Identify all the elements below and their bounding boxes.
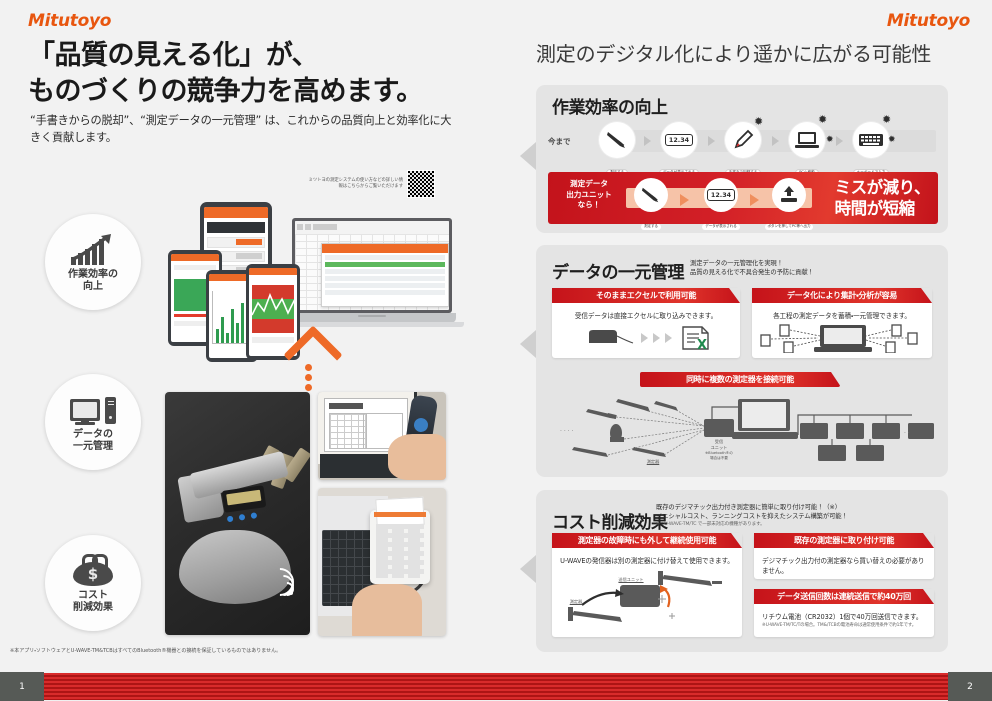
banner-step-caption: データが表示される xyxy=(702,224,740,230)
box-attach-existing: 既存の測定器に取り付け可能 デジマチック出力付の測定器なら買い替えの必要がありま… xyxy=(754,533,934,579)
flow-step-measure: 測定する xyxy=(594,122,640,177)
badge-data-management: データの 一元管理 xyxy=(45,374,141,470)
laptop-illustration xyxy=(288,218,456,333)
display-value: 12.34 xyxy=(665,134,693,146)
mitutoyo-logo-right: Mitutoyo xyxy=(887,11,970,31)
banner-step-output: ボタンを押してPC等へ出力 xyxy=(760,178,818,231)
badge-label: コスト 削減効果 xyxy=(73,590,113,614)
panel-pointer-efficiency xyxy=(520,142,536,170)
label-receiver-unit: 受信 ユニット xyxy=(696,439,742,450)
panel-sub-cost: 既存のデジマチック出力付き測定器に簡単に取り付け可能！（※） イニシャルコスト、… xyxy=(656,503,942,529)
svg-text:X: X xyxy=(697,338,707,351)
money-purse-icon: $ xyxy=(70,552,116,586)
badge-work-efficiency: 作業効率の 向上 xyxy=(45,214,141,310)
display-1234-icon: 12.34 xyxy=(661,122,697,158)
transmitter-swap-diagram: 送信ユニット 測定器 xyxy=(560,565,732,631)
page-number-left: 1 xyxy=(0,672,44,701)
box-header: 既存の測定器に取り付け可能 xyxy=(754,533,934,548)
box-battery-life: データ送信回数は連続送信で約40万回 リチウム電池（CR2032）1個で40万回… xyxy=(754,589,934,637)
box-header: そのままエクセルで利用可能 xyxy=(552,288,740,303)
panel-heading-cost: コスト削減効果 xyxy=(552,508,668,533)
box-note: ※U-WAVE-TM/TC/Tの場合。TM&/TCBの電池寿命は通常使用条件で約… xyxy=(762,623,926,629)
up-arrow-icon xyxy=(292,334,338,378)
box-body: デジマチック出力付の測定器なら買い替えの必要がありません。 xyxy=(754,548,934,582)
wireless-signal-icon xyxy=(264,570,294,596)
qr-caption: ミツトヨの測定システムの使い方などの詳しい情報はこちらからご覧いただけます xyxy=(305,178,403,191)
old-flow-label: 今まで xyxy=(548,136,571,147)
box-analysis-easy: データ化により集計・分析が容易 各工程の測定データを蓄積・一元管理できます。 xyxy=(752,288,932,358)
svg-text:· · · ·: · · · · xyxy=(560,428,573,435)
display-1234-icon: 12.34 xyxy=(704,178,738,212)
box-header: 測定器の故障時にも外して継続使用可能 xyxy=(552,533,742,548)
headline-line-2: ものづくりの競争力を高めます。 xyxy=(28,74,468,110)
label-gauge: 測定器 xyxy=(638,459,668,465)
box-header: データ送信回数は連続送信で約40万回 xyxy=(754,589,934,604)
photo-micrometer-measuring xyxy=(165,392,310,635)
mitutoyo-logo-left: Mitutoyo xyxy=(28,11,111,31)
banner-headline: ミスが減り、 時間が短縮 xyxy=(835,177,930,219)
panel-heading-data: データの一元管理 xyxy=(552,258,684,283)
desktop-pc-icon xyxy=(70,391,116,425)
badge-label: 作業効率の 向上 xyxy=(68,269,118,293)
banner-step-display: 12.34 データが表示される xyxy=(692,178,750,231)
gear-icon: ✹ xyxy=(882,114,891,125)
label-transmit-unit: 送信ユニット xyxy=(608,577,654,583)
page-number-right: 2 xyxy=(948,672,992,701)
qr-block: ミツトヨの測定システムの使い方などの詳しい情報はこちらからご覧いただけます xyxy=(305,170,435,198)
banner-step-caption: 測定する xyxy=(641,224,661,230)
badge-cost-reduction: $ コスト 削減効果 xyxy=(45,535,141,631)
panel-pointer-data xyxy=(520,330,536,358)
banner-step-caption: ボタンを押してPC等へ出力 xyxy=(765,224,814,230)
page-left: Mitutoyo 「品質の見える化」が、 ものづくりの競争力を高めます。 “手書… xyxy=(0,0,496,672)
gear-icon: ✹ xyxy=(826,136,834,145)
banner-step-measure: 測定する xyxy=(622,178,680,231)
gear-icon: ✹ xyxy=(818,114,827,125)
gear-icon: ✹ xyxy=(754,116,763,127)
box-excel-usable: そのままエクセルで利用可能 受信データは直接エクセルに取り込みできます。 X xyxy=(552,288,740,358)
panel-sub-data: 測定データの一元管理化を実現！ 品質の見える化で不具合発生の予防に貢献！ xyxy=(690,259,940,278)
footnote: ※本アプリ・ソフトウェアとU-WAVE-TM&TCBはすべてのBluetooth… xyxy=(10,648,430,656)
flow-step-handwrite: 手書きで記録する xyxy=(720,122,766,177)
laptop-icon xyxy=(789,122,825,158)
banner-left-label: 測定データ 出力ユニット なら！ xyxy=(558,179,620,211)
keyboard-icon xyxy=(853,122,889,158)
gear-icon: ✹ xyxy=(888,136,896,145)
brochure-spread: Mitutoyo 「品質の見える化」が、 ものづくりの競争力を高めます。 “手書… xyxy=(0,0,992,701)
flow-step-display: 12.34 データが表示される xyxy=(656,122,702,177)
label-bluetooth-note: ※Bluetooth®の 場合は不要 xyxy=(690,451,748,461)
caliper-icon xyxy=(634,178,668,212)
photo-pen-input-device xyxy=(318,392,446,480)
caliper-icon xyxy=(599,122,635,158)
badge-label: データの 一元管理 xyxy=(73,429,113,453)
svg-text:· ·: · · xyxy=(904,430,910,437)
box-body: リチウム電池（CR2032）1個で40万回送信できます。 ※U-WAVE-TM/… xyxy=(754,604,934,636)
box-header: データ化により集計・分析が容易 xyxy=(752,288,932,303)
subheadline: “手書きからの脱却”、“測定データの一元管理” は、これからの品質向上と効率化に… xyxy=(30,112,460,147)
right-page-title: 測定のデジタル化により遥かに広がる可能性 xyxy=(536,38,931,67)
page-title: 「品質の見える化」が、 ものづくりの競争力を高めます。 xyxy=(28,38,468,109)
data-upload-icon xyxy=(772,178,806,212)
flow-step-move-to-pc: PCへ移動 xyxy=(784,122,830,177)
photo-output-unit-keypad xyxy=(318,488,446,636)
footer-stripe xyxy=(44,673,948,700)
label-gauge: 測定器 xyxy=(560,599,592,605)
old-workflow-diagram: 測定する 12.34 データが表示される 手書きで記録する ✹ PCへ移動 ✹ … xyxy=(586,122,938,164)
growth-bar-chart-icon xyxy=(70,231,116,265)
excel-export-icon: X xyxy=(552,327,740,353)
box-body: 受信データは直接エクセルに取り込みできます。 xyxy=(552,303,740,327)
band-multiple-devices: 同時に複数の測定器を接続可能 xyxy=(640,372,840,387)
headline-line-1: 「品質の見える化」が、 xyxy=(28,40,318,71)
efficiency-red-banner: 測定データ 出力ユニット なら！ 測定する 12.34 データが表示される ボタ… xyxy=(548,172,938,224)
network-diagram: · · · · · · 受信 ユニット ※Bluetooth®の 場合は不要 測… xyxy=(552,393,934,469)
panel-heading-efficiency: 作業効率の向上 xyxy=(552,93,668,118)
network-pc-icon xyxy=(752,327,932,355)
flow-step-keyboard-entry: キーボードで入力 xyxy=(848,122,894,177)
panel-pointer-cost xyxy=(520,555,536,583)
qr-code-icon[interactable] xyxy=(407,170,435,198)
display-value: 12.34 xyxy=(707,189,735,201)
